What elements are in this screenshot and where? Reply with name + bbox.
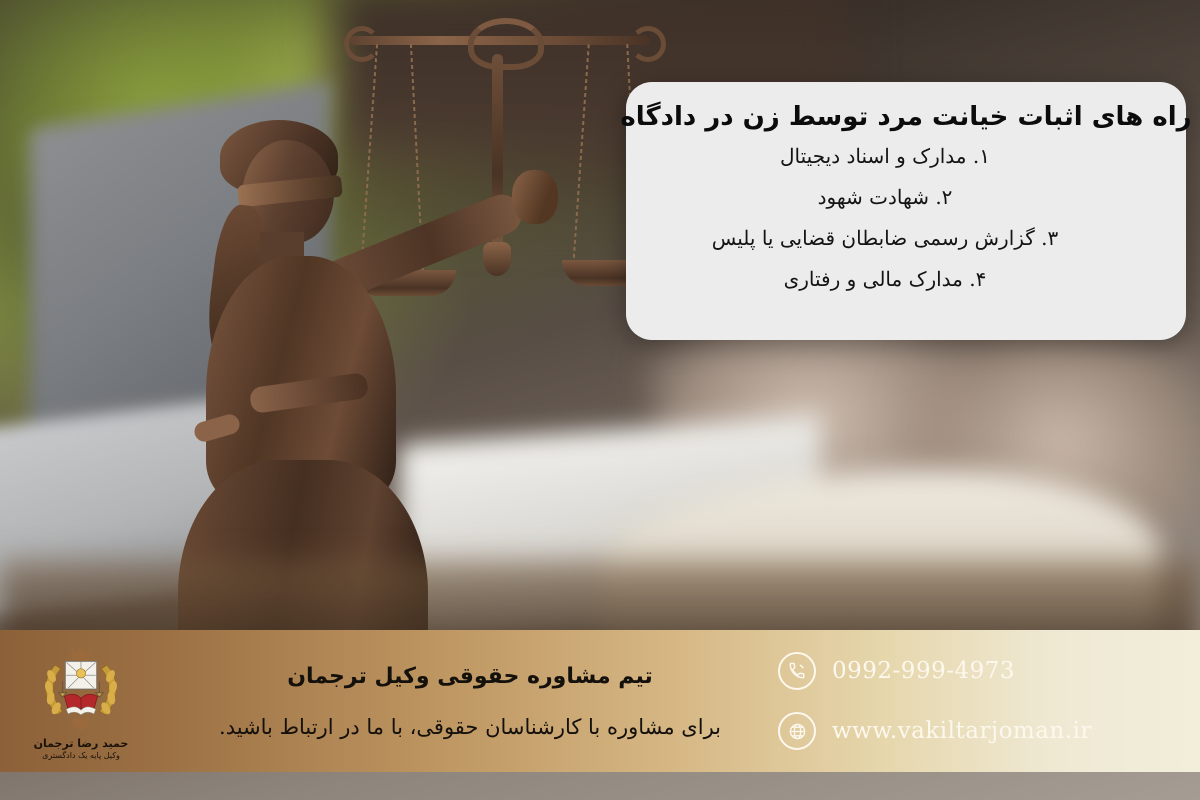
chain-1 [360, 44, 378, 274]
contact-block: 0992-999-4973 www.vakiltarjoman.ir [778, 652, 1178, 750]
logo-lawyer-title: وکیل پایه یک دادگستری [42, 751, 120, 760]
card-title: راه های اثبات خیانت مرد توسط زن در دادگا… [620, 102, 1191, 133]
contact-website[interactable]: www.vakiltarjoman.ir [778, 712, 1178, 750]
globe-icon [778, 712, 816, 750]
lady-justice-statue [120, 20, 640, 630]
website-url: www.vakiltarjoman.ir [832, 718, 1092, 744]
phone-icon [778, 652, 816, 690]
info-card: راه های اثبات خیانت مرد توسط زن در دادگا… [626, 82, 1186, 340]
footer-bar: 0992-999-4973 www.vakiltarjoman.ir تیم م… [0, 630, 1200, 772]
list-item: ۲. شهادت شهود [626, 184, 1186, 211]
card-list: ۱. مدارک و اسناد دیجیتال ۲. شهادت شهود ۳… [626, 143, 1186, 307]
scales-of-justice [340, 20, 660, 350]
phone-number: 0992-999-4973 [832, 658, 1015, 684]
contact-phone[interactable]: 0992-999-4973 [778, 652, 1178, 690]
footer-subline: برای مشاوره با کارشناسان حقوقی، با ما در… [219, 715, 721, 739]
footer-message-block: تیم مشاوره حقوقی وکیل ترجمان برای مشاوره… [162, 664, 778, 739]
scales-ornament [468, 18, 544, 70]
footer-headline: تیم مشاوره حقوقی وکیل ترجمان [287, 664, 653, 689]
logo-lawyer-name: حمید رضا ترجمان [34, 737, 129, 750]
chain-3 [572, 44, 589, 266]
statue-hand [512, 170, 558, 224]
bar-association-emblem-icon [35, 643, 127, 735]
poster: راه های اثبات خیانت مرد توسط زن در دادگا… [0, 0, 1200, 800]
list-item: ۴. مدارک مالی و رفتاری [626, 266, 1186, 293]
list-item: ۱. مدارک و اسناد دیجیتال [626, 143, 1186, 170]
scales-scroll-right [630, 26, 666, 62]
scales-rod-knob [483, 242, 511, 276]
list-item: ۳. گزارش رسمی ضابطان قضایی یا پلیس [626, 225, 1186, 252]
brand-logo: حمید رضا ترجمان وکیل پایه یک دادگستری [6, 643, 156, 760]
